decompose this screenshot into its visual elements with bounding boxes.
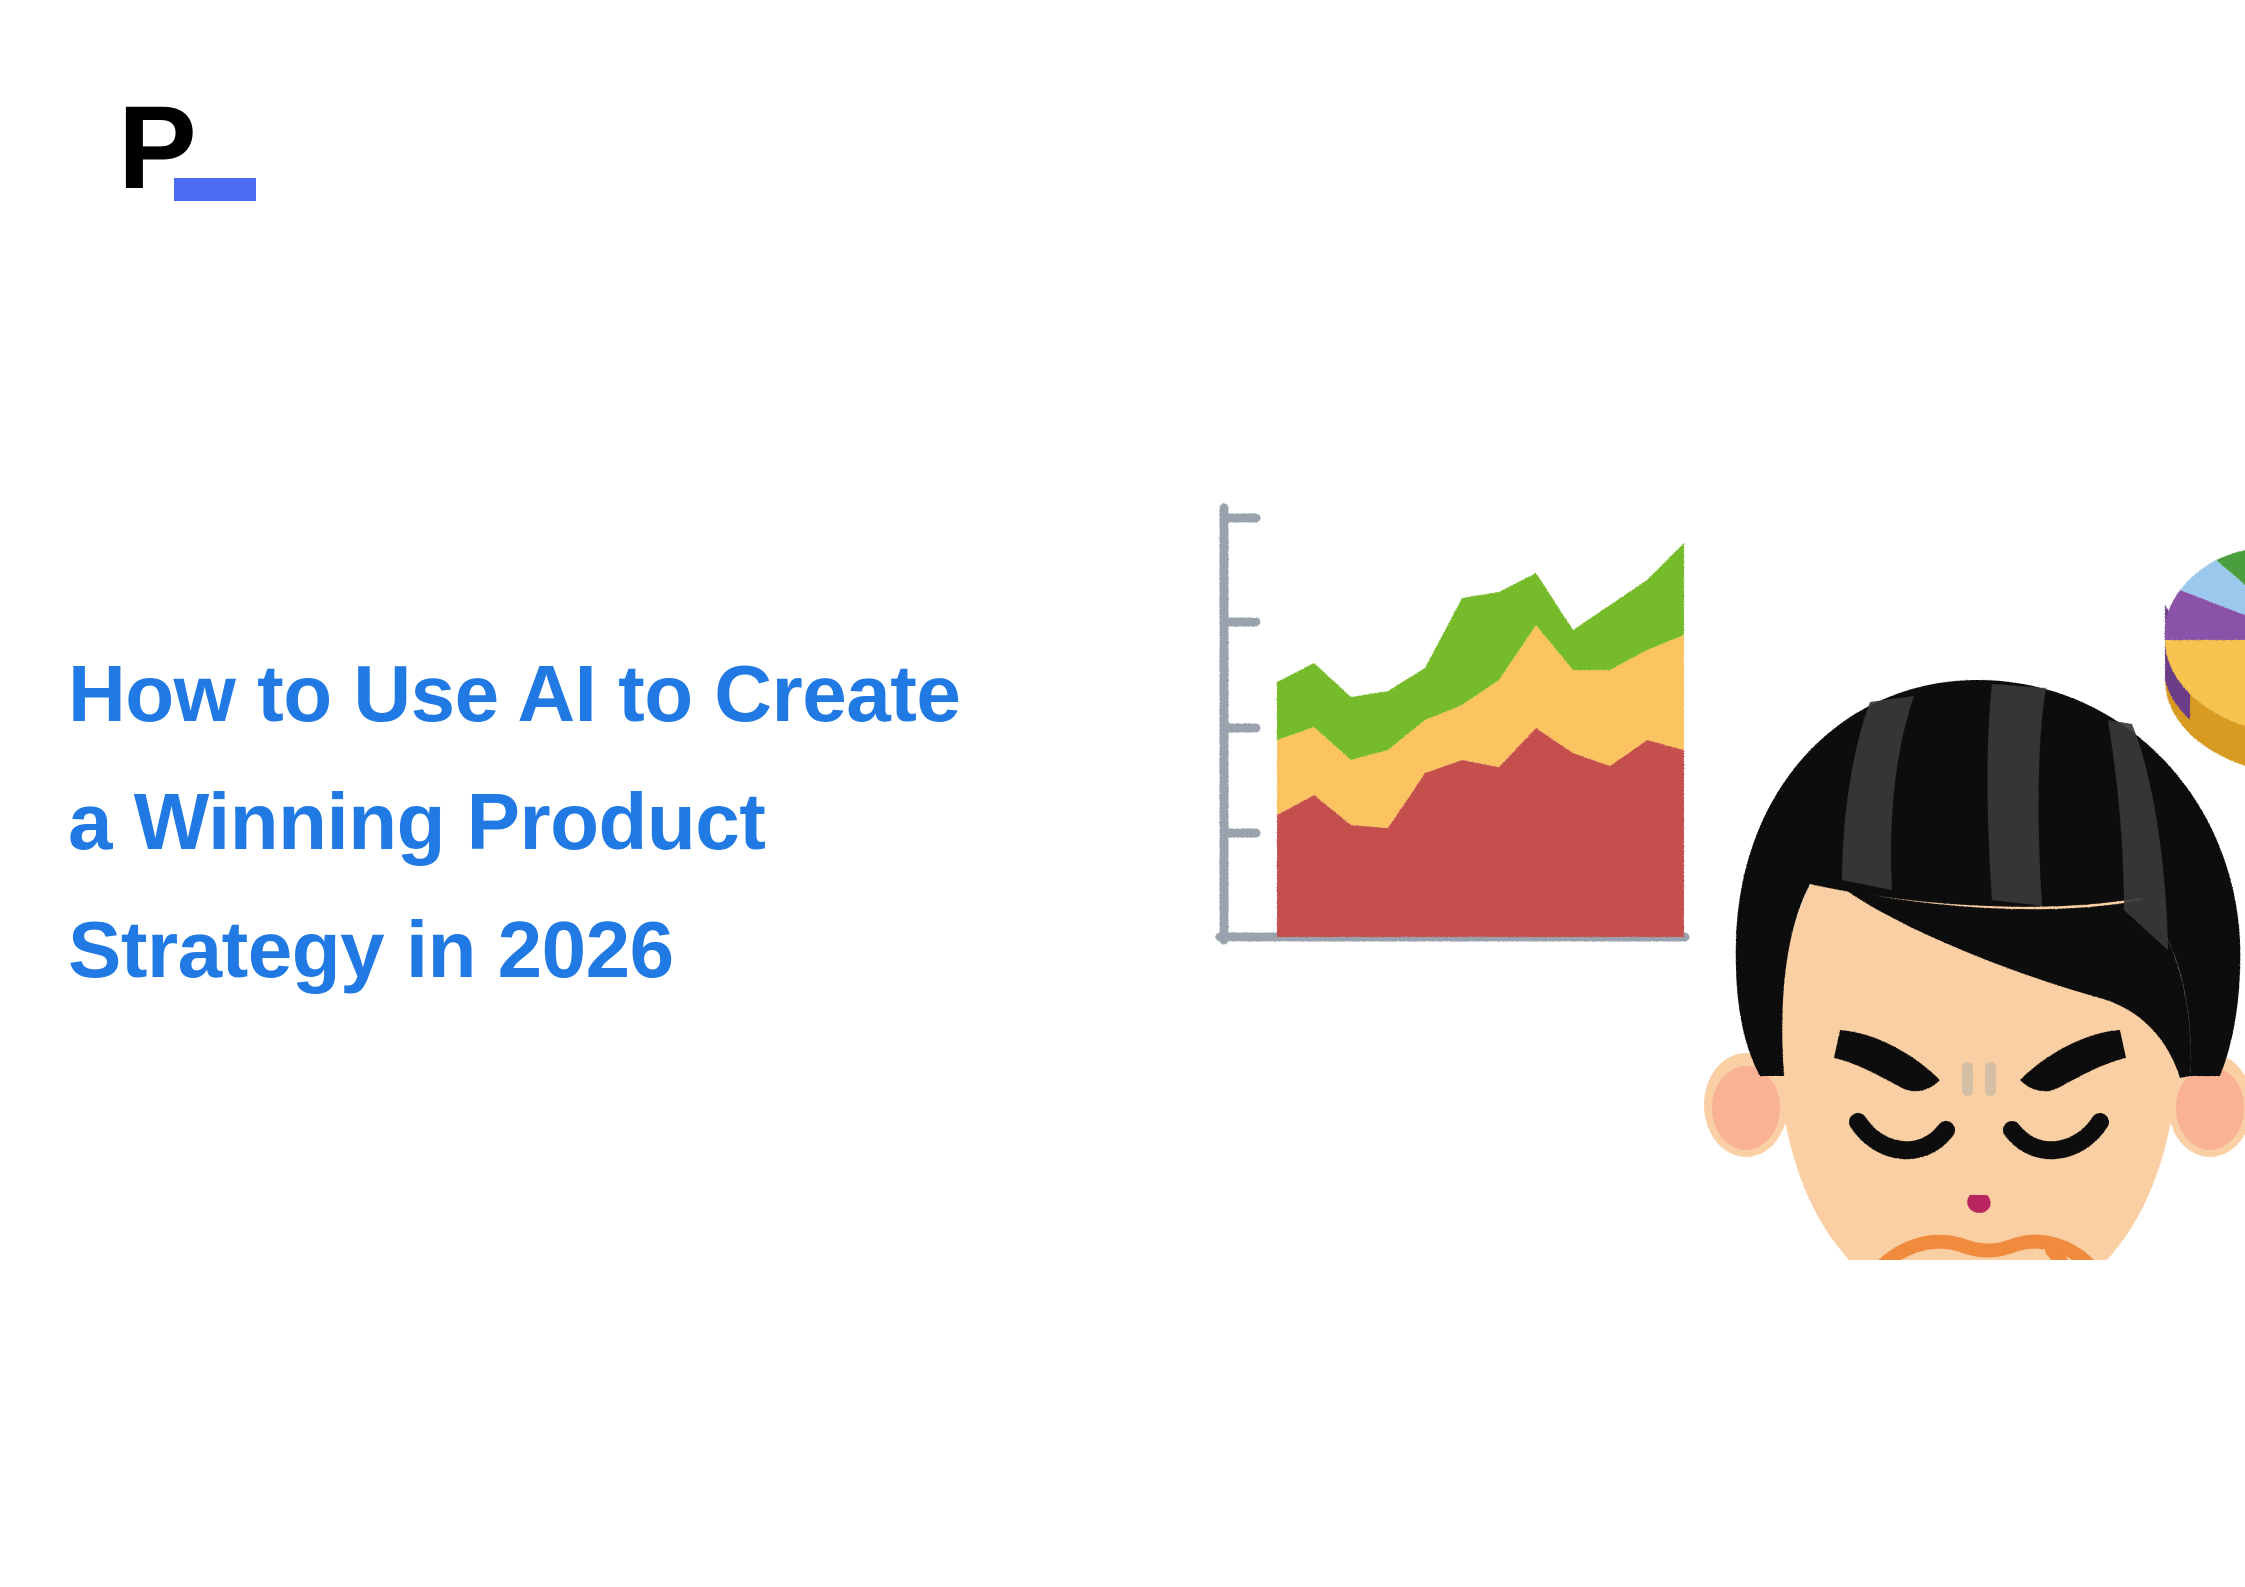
character-ear-blush-left (1712, 1066, 1780, 1150)
character-ear-blush-right (2176, 1066, 2244, 1150)
page-root: P How to Use AI to Create a Winning Prod… (0, 0, 2245, 1587)
page-title-line-3: Strategy in 2026 (68, 886, 1178, 1014)
page-title-line-2: a Winning Product (68, 758, 1178, 886)
exploded-pie-chart (2165, 544, 2245, 776)
character-businessman (1704, 680, 2245, 1260)
logo-underscore-icon (174, 178, 256, 201)
hero-illustration (1180, 250, 2245, 1260)
stacked-area-chart (1220, 508, 1685, 940)
logo[interactable]: P (118, 96, 258, 206)
page-title: How to Use AI to Create a Winning Produc… (68, 630, 1178, 1014)
page-title-line-1: How to Use AI to Create (68, 630, 1178, 758)
